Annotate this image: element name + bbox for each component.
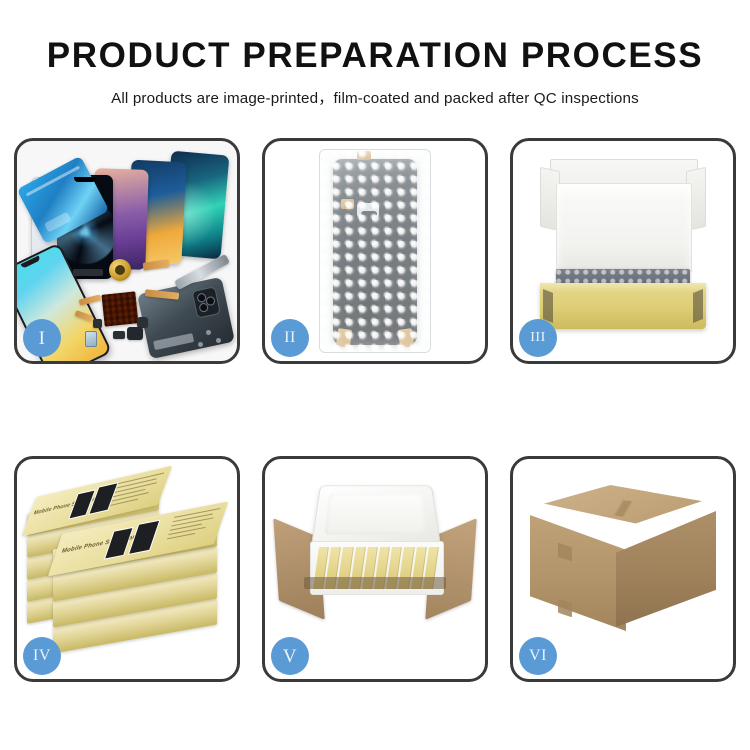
- small-part: [113, 331, 125, 339]
- step-panel-1[interactable]: I: [14, 138, 240, 364]
- step-badge-5: V: [271, 637, 309, 675]
- speaker-part: [127, 327, 143, 340]
- product-preparation-infographic: PRODUCT PREPARATION PROCESS All products…: [0, 0, 750, 750]
- kraft-box-base: [540, 283, 706, 329]
- step-badge-1: I: [23, 319, 61, 357]
- box-label-lcd-image: [104, 527, 134, 560]
- screw-part: [198, 342, 203, 347]
- camera-module-icon: [192, 286, 221, 318]
- sim-tray-part: [85, 331, 97, 347]
- phone-notch: [21, 255, 41, 268]
- step-panel-6[interactable]: VI: [510, 456, 736, 682]
- carton-left-face: [530, 515, 626, 631]
- page-subtitle: All products are image-printed，film-coat…: [0, 86, 750, 108]
- box-corner-shadow: [543, 289, 553, 323]
- phone-notch: [74, 177, 96, 182]
- step-panel-4[interactable]: Mobile Phone Spare Parts Mobile Phone Sp…: [14, 456, 240, 682]
- small-part: [93, 319, 102, 328]
- step-panel-5[interactable]: V: [262, 456, 488, 682]
- header: PRODUCT PREPARATION PROCESS All products…: [0, 0, 750, 108]
- screw-part: [216, 338, 221, 343]
- bubble-wrap-bag: [319, 149, 431, 353]
- carton-body: [300, 581, 450, 655]
- screw-part: [206, 330, 211, 335]
- speaker-coil-part: [109, 259, 131, 281]
- step-badge-2: II: [271, 319, 309, 357]
- box-label-spec-lines: [165, 508, 220, 545]
- process-step-grid: I II: [14, 138, 736, 690]
- cover-strip: [153, 333, 194, 350]
- step-panel-2[interactable]: II: [262, 138, 488, 364]
- carton-right-face: [616, 511, 716, 627]
- step-badge-4: IV: [23, 637, 61, 675]
- bubble-wrap-texture: [319, 149, 431, 353]
- small-part: [73, 269, 103, 276]
- box-stack: Mobile Phone Spare Parts Mobile Phone Sp…: [25, 475, 225, 661]
- box-corner-shadow: [693, 289, 703, 323]
- sealed-carton: [530, 485, 716, 645]
- foam-cooler-lid: [311, 485, 441, 545]
- box-label-lcd-image: [128, 520, 161, 555]
- open-inner-box: [534, 159, 712, 329]
- chip-grid-part: [101, 291, 138, 326]
- open-carton: [280, 473, 470, 663]
- step-panel-3[interactable]: III: [510, 138, 736, 364]
- step-badge-3: III: [519, 319, 557, 357]
- step-badge-6: VI: [519, 637, 557, 675]
- foam-padding-sheet: [556, 183, 692, 273]
- page-title: PRODUCT PREPARATION PROCESS: [0, 38, 750, 75]
